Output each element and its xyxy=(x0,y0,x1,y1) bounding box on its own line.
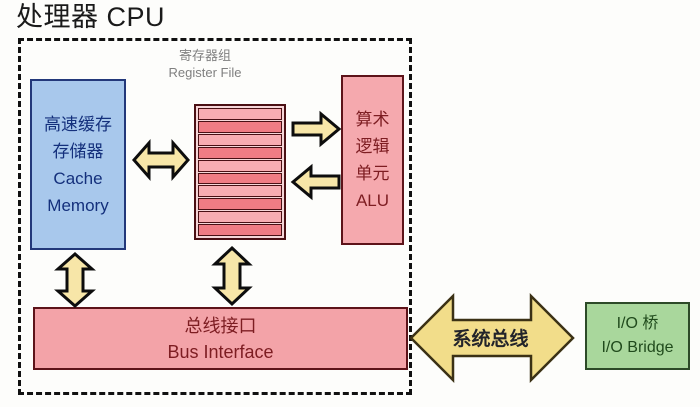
double-headed-horizontal-arrow-icon xyxy=(132,136,190,184)
cache-line-4: Memory xyxy=(47,192,108,219)
bus-interface-line-2: Bus Interface xyxy=(167,339,273,365)
register-file-caption-en: Register File xyxy=(150,64,260,81)
register-row xyxy=(198,173,282,185)
alu-line-4: ALU xyxy=(356,187,389,214)
cache-memory-block: 高速缓存 存储器 Cache Memory xyxy=(30,79,126,250)
system-bus-label: 系统总线 xyxy=(428,324,553,351)
register-row xyxy=(198,134,282,146)
register-file-caption: 寄存器组 Register File xyxy=(150,47,260,81)
register-row xyxy=(198,160,282,172)
cache-line-3: Cache xyxy=(53,165,102,192)
register-file-caption-cn: 寄存器组 xyxy=(150,47,260,64)
register-row xyxy=(198,121,282,133)
alu-line-1: 算术 xyxy=(356,106,390,133)
double-headed-vertical-arrow-icon xyxy=(212,246,252,306)
io-bridge-line-2: I/O Bridge xyxy=(601,336,673,360)
alu-line-2: 逻辑 xyxy=(356,133,390,160)
register-file-block xyxy=(194,104,286,240)
register-row xyxy=(198,224,282,236)
register-row xyxy=(198,108,282,120)
register-row xyxy=(198,198,282,210)
alu-block: 算术 逻辑 单元 ALU xyxy=(341,75,404,245)
bus-interface-block: 总线接口 Bus Interface xyxy=(33,307,408,370)
bus-interface-line-1: 总线接口 xyxy=(185,313,257,339)
register-row xyxy=(198,147,282,159)
register-row xyxy=(198,185,282,197)
alu-line-3: 单元 xyxy=(356,160,390,187)
left-arrow-icon xyxy=(291,165,341,199)
cache-line-1: 高速缓存 xyxy=(44,111,112,138)
cpu-architecture-diagram: 处理器 CPU 高速缓存 存储器 Cache Memory 寄存器组 Regis… xyxy=(0,0,700,407)
double-headed-vertical-arrow-icon xyxy=(55,252,95,308)
page-title: 处理器 CPU xyxy=(16,1,165,33)
register-row xyxy=(198,211,282,223)
cache-line-2: 存储器 xyxy=(53,138,104,165)
right-arrow-icon xyxy=(291,112,341,146)
io-bridge-line-1: I/O 桥 xyxy=(617,312,659,336)
io-bridge-block: I/O 桥 I/O Bridge xyxy=(585,302,690,370)
